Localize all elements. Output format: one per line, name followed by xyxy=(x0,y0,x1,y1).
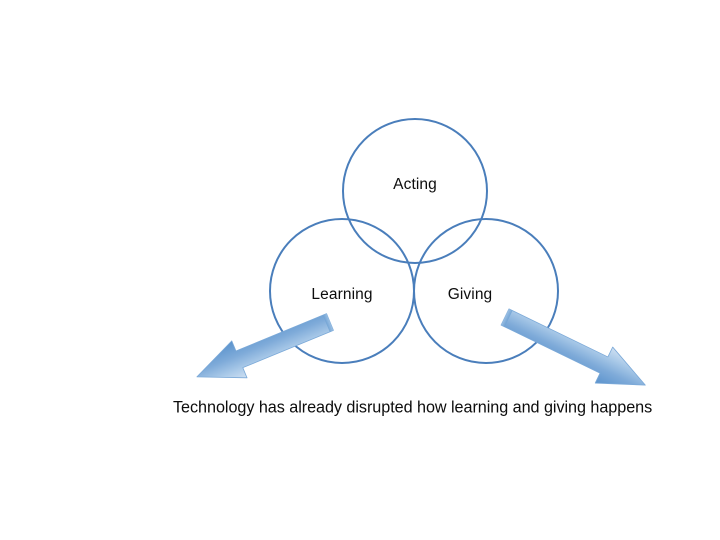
slide-caption: Technology has already disrupted how lea… xyxy=(173,399,652,418)
slide-canvas: Acting Learning Giving Technology has al… xyxy=(0,0,720,540)
venn-label-learning: Learning xyxy=(311,286,372,304)
venn-diagram xyxy=(0,0,720,540)
venn-label-acting: Acting xyxy=(393,176,437,194)
left-arrow xyxy=(189,304,337,396)
right-arrow xyxy=(496,299,654,403)
venn-label-giving: Giving xyxy=(448,286,493,304)
